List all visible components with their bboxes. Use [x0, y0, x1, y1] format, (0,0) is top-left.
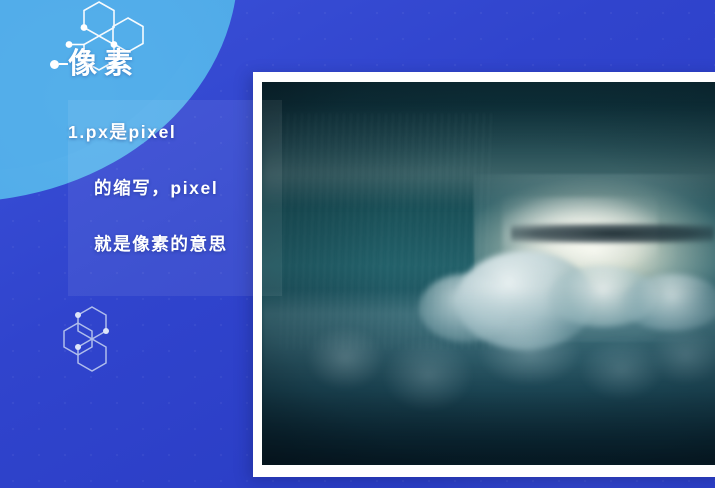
body-line-1: 1.px是pixel: [68, 104, 328, 160]
photo-vignette: [262, 82, 715, 465]
page-title-label: 像素: [68, 50, 140, 79]
page-title: 像素: [50, 42, 140, 86]
cloudscape-photo: [262, 82, 715, 465]
connector-line-icon: [59, 63, 68, 65]
slide-canvas: 像素 1.px是pixel 的缩写，pixel 就是像素的意思: [0, 0, 715, 488]
body-line-3: 就是像素的意思: [68, 216, 328, 272]
body-line-2: 的缩写，pixel: [68, 160, 328, 216]
dot-connector-icon: [50, 60, 59, 69]
hexagon-cluster-icon-bottom: [44, 303, 144, 378]
body-text-block: 1.px是pixel 的缩写，pixel 就是像素的意思: [68, 104, 328, 272]
